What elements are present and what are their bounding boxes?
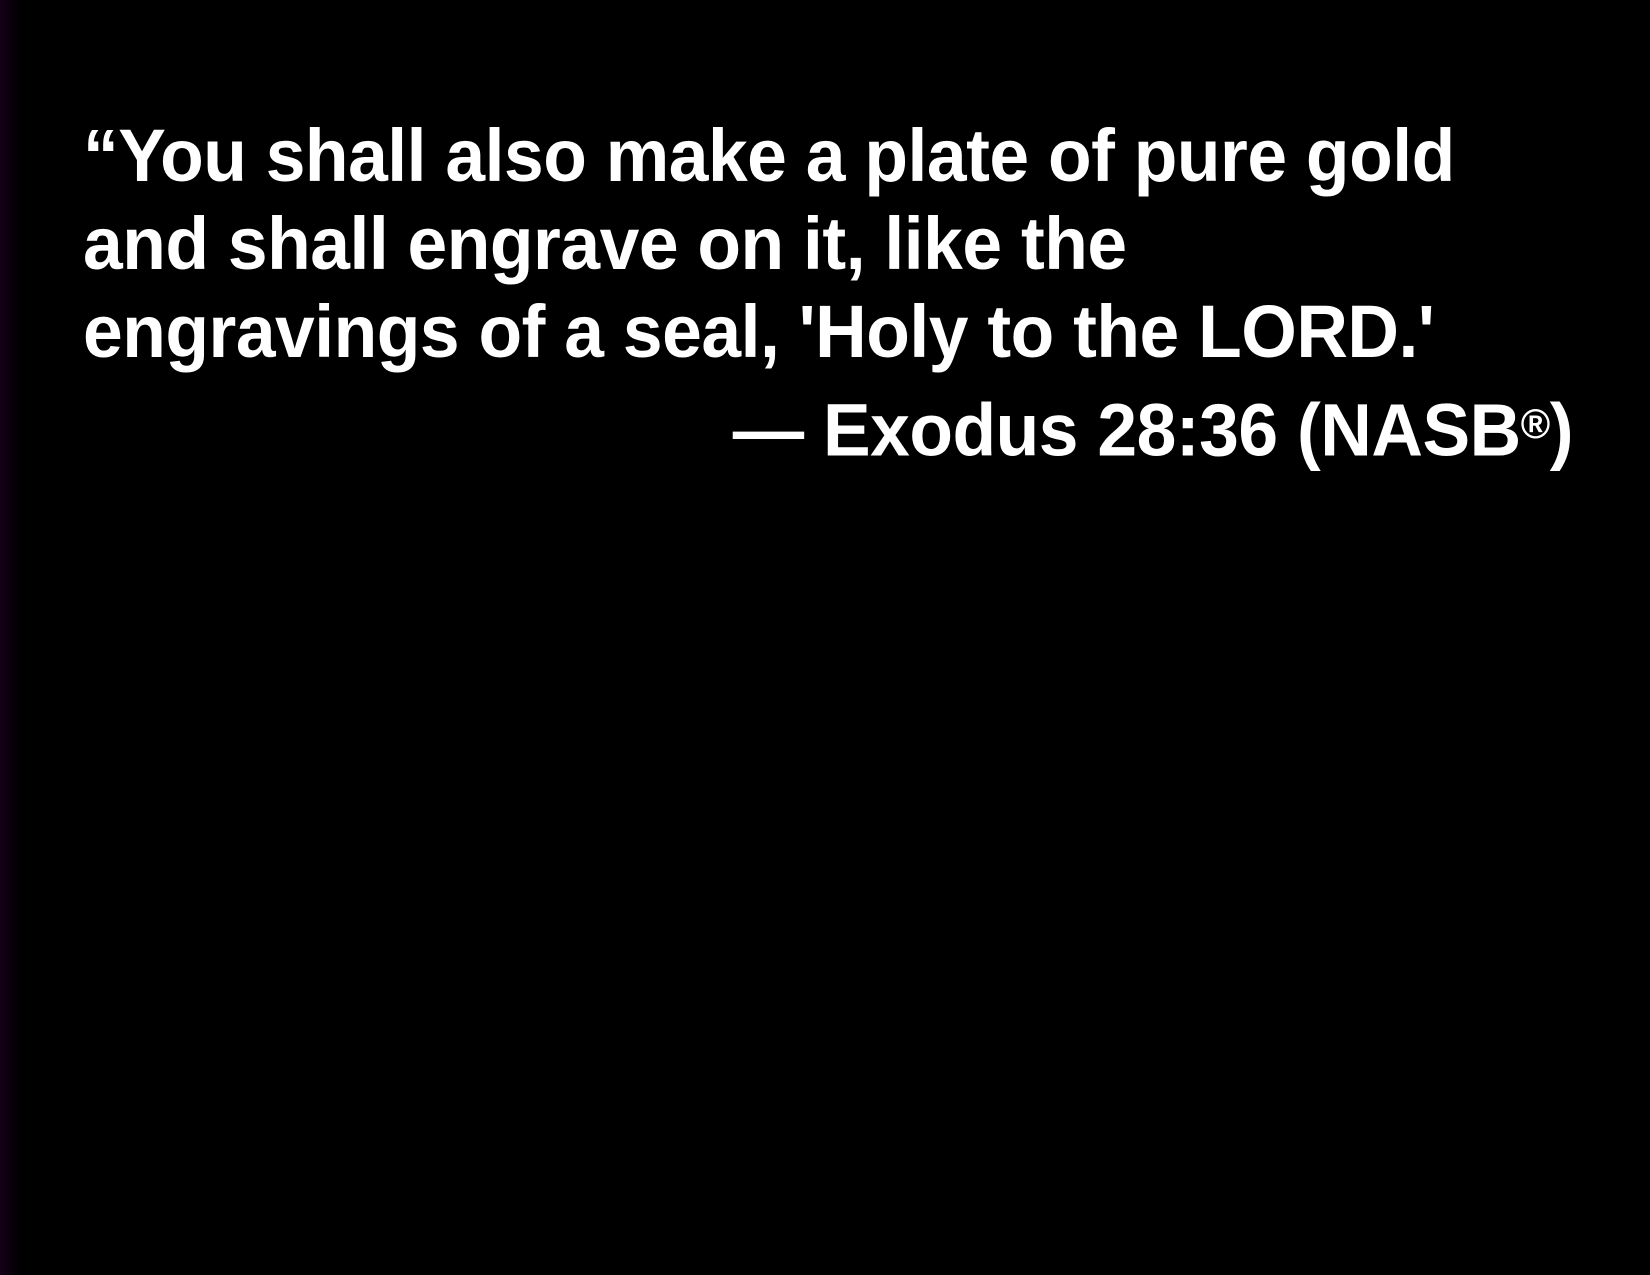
verse-line-1: “You shall also make a plate of pure gol… <box>83 112 1521 200</box>
verse-slide: “You shall also make a plate of pure gol… <box>0 0 1650 1275</box>
attribution-suffix: ) <box>1550 388 1573 471</box>
verse-text-block: “You shall also make a plate of pure gol… <box>83 112 1573 478</box>
verse-attribution: — Exodus 28:36 (NASB®) <box>135 376 1573 478</box>
verse-line-3: engravings of a seal, 'Holy to the LORD.… <box>83 288 1521 376</box>
slide-stage: “You shall also make a plate of pure gol… <box>25 8 1633 1240</box>
attribution-prefix: — Exodus 28:36 (NASB <box>733 388 1521 471</box>
registered-trademark-icon: ® <box>1521 400 1550 447</box>
verse-line-2: and shall engrave on it, like the <box>83 200 1521 288</box>
